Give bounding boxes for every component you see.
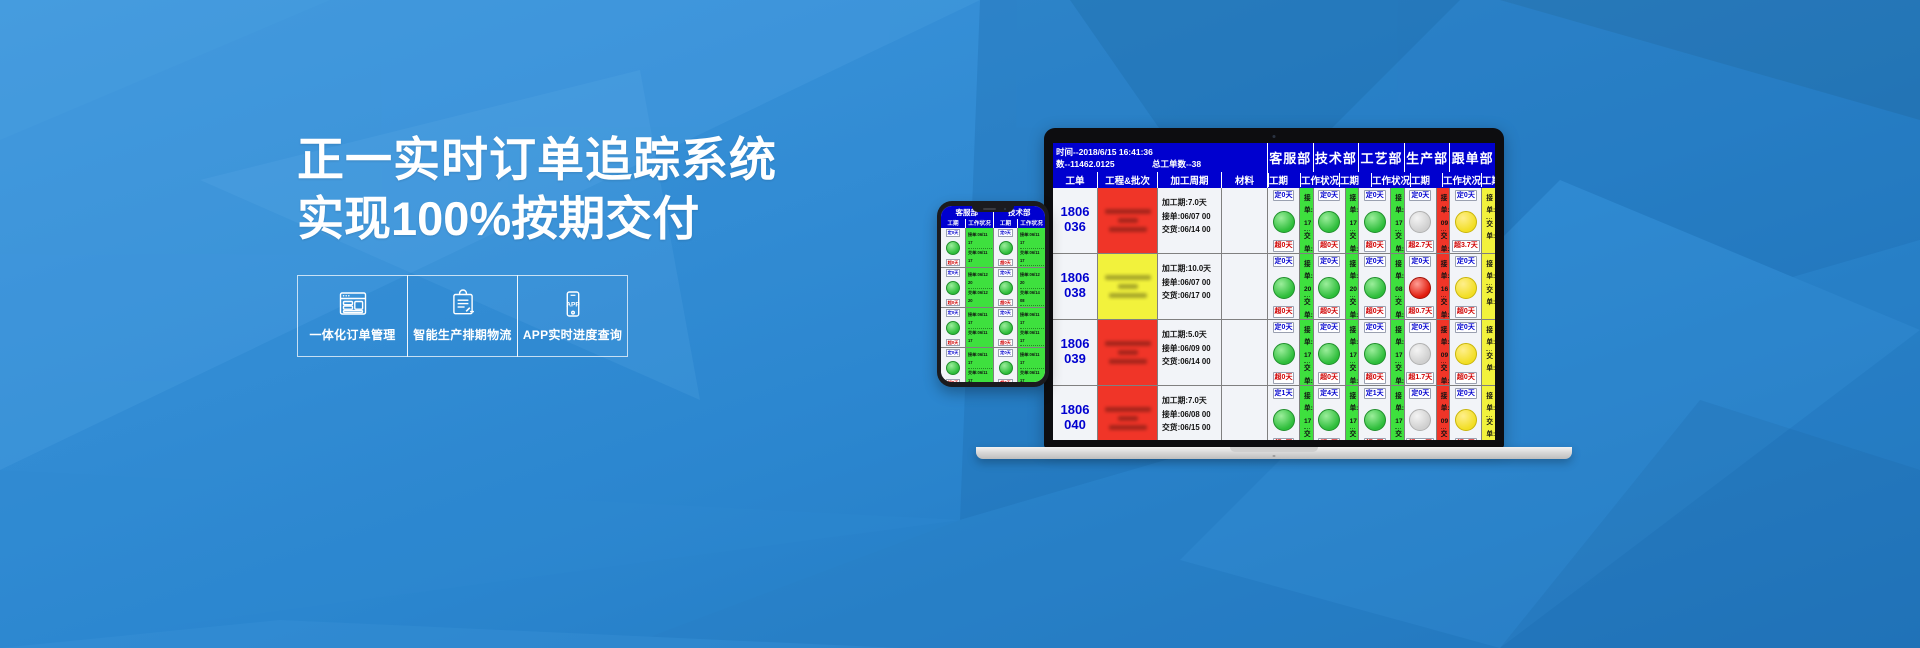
plan-days-badge: 定0天 [1273, 256, 1295, 267]
cell-status-客服部: 接单:06/11 17交单:06/11 17 [1299, 320, 1313, 385]
plan-days-badge: 定0天 [1273, 322, 1295, 333]
plan-days-badge: 定0天 [1455, 388, 1477, 399]
over-days-badge: 超2.7天 [1406, 240, 1434, 251]
status-line-1: 交单: [1486, 285, 1492, 310]
cell-days-技术部: 定0天超0天 [1313, 320, 1345, 385]
erp-dept-subcolumns: 工期工作状况工期工作状况工期工作状况工期工作状况工期工作状况 [1267, 172, 1495, 188]
over-days-badge: 超0天 [1273, 438, 1295, 440]
status-indicator-green [1273, 211, 1295, 233]
erp-timestamp: 时间--2018/6/15 16:41:36 [1056, 146, 1265, 158]
status-line-0: 接单:06/12 09 [1441, 391, 1447, 430]
webcam-icon [1273, 135, 1276, 138]
cell-status-工艺部: 接单:06/11 17交单:06/12 09 [1390, 320, 1404, 385]
phone-status-line-1: 交单:06/11 17 [1020, 369, 1044, 383]
plan-days-badge: 定0天 [1455, 256, 1477, 267]
cell-days-跟单部: 定0天超0天 [1449, 386, 1481, 440]
col-status-客服部: 工作状况 [1300, 173, 1339, 187]
status-line-1: 交单:06/11 17 [1350, 231, 1356, 252]
phone-over-badge: 超0天 [946, 379, 961, 382]
plan-days-badge: 定0天 [1409, 322, 1431, 333]
status-indicator-green [1273, 343, 1295, 365]
plan-days-badge: 定1天 [1273, 388, 1295, 399]
cell-status-生产部: 接单:06/12 09交单: [1436, 188, 1450, 253]
cell-status-技术部: 接单:06/11 17交单:06/11 17确认:06/11 17 [1345, 386, 1359, 440]
status-line-1: 交单:06/11 17 [1350, 363, 1356, 384]
cell-project-batch [1097, 188, 1157, 253]
col-status-工艺部: 工作状况 [1442, 173, 1481, 187]
cell-process-cycle: 加工期:5.0天接单:06/09 00交货:06/14 00 [1157, 320, 1221, 385]
cycle-line-0: 加工期:7.0天 [1162, 394, 1218, 408]
plan-days-badge: 定4天 [1318, 388, 1340, 399]
status-line-0: 接单:06/11 17 [1350, 325, 1356, 364]
erp-meta: 时间--2018/6/15 16:41:36 数--11462.0125 总工单… [1053, 143, 1267, 172]
cell-material [1221, 188, 1267, 253]
over-days-badge: 超0天 [1455, 306, 1477, 317]
cell-days-跟单部: 定0天超0天 [1449, 254, 1481, 319]
cell-work-order: 1806040 [1053, 386, 1097, 440]
status-indicator-yellow [1455, 277, 1477, 299]
cell-days-跟单部: 定0天超3.7天 [1449, 188, 1481, 253]
plan-days-badge: 定0天 [1318, 322, 1340, 333]
status-line-0: 接单:06/11 17 [1304, 193, 1310, 232]
over-days-badge: 超0天 [1364, 372, 1386, 383]
cell-days-技术部: 定4天超0天 [1313, 386, 1345, 440]
status-line-0: 接单:06/15 16 [1441, 259, 1447, 298]
col-days-生产部: 工期 [1481, 173, 1495, 187]
plan-days-badge: 定0天 [1455, 190, 1477, 201]
status-line-0: 接单:06/12 09 [1441, 193, 1447, 232]
status-indicator-green [1364, 277, 1386, 299]
table-row[interactable]: 1806039加工期:5.0天接单:06/09 00交货:06/14 00定0天… [1053, 320, 1495, 386]
status-line-1: 交单:06/12 09 [1395, 231, 1401, 252]
work-order-top: 1806 [1061, 205, 1090, 220]
plan-days-badge: 定0天 [1364, 256, 1386, 267]
work-order-bottom: 040 [1064, 418, 1086, 433]
over-days-badge: 超0天 [1455, 372, 1477, 383]
feature-smart-scheduling[interactable]: 智能生产排期物流 [407, 275, 518, 357]
status-line-0: 接单:06/11 17 [1304, 391, 1310, 430]
col-process-cycle: 加工周期 [1157, 172, 1221, 188]
plan-days-badge: 定0天 [1409, 256, 1431, 267]
over-days-badge: 超1.7天 [1406, 372, 1434, 383]
status-line-0: 接单:06/11 17 [1395, 391, 1401, 430]
cell-status-生产部: 接单:06/12 09交单: [1436, 386, 1450, 440]
erp-table-body[interactable]: 1806036加工期:7.0天接单:06/07 00交货:06/14 00定0天… [1053, 188, 1495, 440]
status-line-0: 接单: [1486, 325, 1492, 351]
cell-material [1221, 386, 1267, 440]
col-material: 材料 [1221, 172, 1267, 188]
status-indicator-green [1364, 343, 1386, 365]
cell-material [1221, 320, 1267, 385]
status-line-0: 接单:06/12 20 [1304, 259, 1310, 298]
status-line-1: 交单:06/12 09 [1395, 363, 1401, 384]
over-days-badge: 超0天 [1273, 240, 1295, 251]
cell-status-跟单部: 接单:交单: [1481, 320, 1495, 385]
status-indicator-green [1318, 211, 1340, 233]
feature-label: 智能生产排期物流 [413, 326, 511, 343]
work-order-bottom: 038 [1064, 286, 1086, 301]
clipboard-schedule-icon [448, 289, 478, 319]
status-line-1: 交单:06/14 08 [1350, 297, 1356, 318]
over-days-badge: 超0天 [1364, 306, 1386, 317]
over-days-badge: 超0天 [1273, 306, 1295, 317]
cell-status-工艺部: 接单:06/14 08交单:06/15 16 [1390, 254, 1404, 319]
cell-status-工艺部: 接单:06/11 17交单:06/12 09 [1390, 188, 1404, 253]
cell-days-技术部: 定0天超0天 [1313, 188, 1345, 253]
status-indicator-green [1364, 211, 1386, 233]
hero-copy: 正一实时订单追踪系统 实现100%按期交付 一体化订单管理 [297, 131, 1057, 357]
status-line-1: 交单: [1486, 417, 1492, 440]
status-line-0: 接单: [1486, 259, 1492, 285]
phone-status-indicator-green [946, 361, 960, 375]
status-line-1: 交单:06/15 16 [1395, 297, 1401, 318]
cell-status-生产部: 接单:06/15 16交单: [1436, 254, 1450, 319]
cell-process-cycle: 加工期:7.0天接单:06/07 00交货:06/14 00 [1157, 188, 1221, 253]
cell-status-技术部: 接单:06/11 17交单:06/11 17确认:06/11 17 [1345, 188, 1359, 253]
table-row[interactable]: 1806038加工期:10.0天接单:06/07 00交货:06/17 00定0… [1053, 254, 1495, 320]
cell-days-客服部: 定0天超0天 [1267, 320, 1299, 385]
plan-days-badge: 定0天 [1318, 190, 1340, 201]
over-days-badge: 超0天 [1273, 372, 1295, 383]
status-line-1: 交单:06/12 09 [1395, 429, 1401, 440]
status-line-1: 交单:06/11 17 [1304, 231, 1310, 252]
work-order-top: 1806 [1061, 403, 1090, 418]
cell-status-技术部: 接单:06/11 17交单:06/11 17确认:06/11 17 [1345, 320, 1359, 385]
status-line-0: 接单:06/12 09 [1441, 325, 1447, 364]
erp-dashboard: 时间--2018/6/15 16:41:36 数--11462.0125 总工单… [1053, 143, 1495, 440]
status-line-0: 接单:06/11 17 [1395, 193, 1401, 232]
plan-days-badge: 定0天 [1409, 388, 1431, 399]
cell-status-生产部: 接单:06/12 09交单: [1436, 320, 1450, 385]
phone-status-line-1: 交单:06/11 17 [968, 369, 992, 383]
cell-days-客服部: 定0天超0天 [1267, 254, 1299, 319]
status-indicator-yellow [1455, 409, 1477, 431]
department-生产部: 生产部 [1404, 143, 1450, 172]
cycle-line-1: 接单:06/09 00 [1162, 342, 1218, 356]
laptop-lid: 时间--2018/6/15 16:41:36 数--11462.0125 总工单… [1044, 128, 1504, 448]
feature-list: 一体化订单管理 智能生产排期物流 [297, 275, 1057, 357]
plan-days-badge: 定0天 [1455, 322, 1477, 333]
status-indicator-gray [1409, 409, 1431, 431]
laptop-base-notch [1230, 447, 1318, 452]
col-days-工艺部: 工期 [1410, 173, 1442, 187]
phone-status-indicator-green [999, 361, 1013, 375]
cell-days-工艺部: 定0天超0天 [1358, 320, 1390, 385]
work-order-bottom: 039 [1064, 352, 1086, 367]
cycle-line-2: 交货:06/17 00 [1162, 289, 1218, 303]
over-days-badge: 超3.7天 [1452, 240, 1480, 251]
laptop-mockup: 时间--2018/6/15 16:41:36 数--11462.0125 总工单… [1044, 128, 1504, 448]
status-indicator-green [1364, 409, 1386, 431]
feature-app-tracking[interactable]: APP APP实时进度查询 [517, 275, 628, 357]
erp-column-header: 工单 工程&批次 加工周期 材料 工期工作状况工期工作状况工期工作状况工期工作状… [1053, 172, 1495, 188]
status-line-1: 交单: [1441, 363, 1447, 384]
status-line-1: 交单: [1441, 231, 1447, 252]
cell-project-batch [1097, 386, 1157, 440]
department-技术部: 技术部 [1313, 143, 1359, 172]
cell-status-技术部: 接单:06/12 20交单:06/14 08确认:06/14 08 [1345, 254, 1359, 319]
cell-status-客服部: 接单:06/11 17交单:06/11 17 [1299, 386, 1313, 440]
cell-status-跟单部: 接单:交单: [1481, 188, 1495, 253]
col-days-客服部: 工期 [1268, 173, 1300, 187]
status-line-1: 交单:06/11 17 [1304, 363, 1310, 384]
status-line-0: 接单:06/11 17 [1350, 193, 1356, 232]
cycle-line-2: 交货:06/14 00 [1162, 223, 1218, 237]
page-title: 正一实时订单追踪系统 实现100%按期交付 [297, 131, 1057, 249]
cell-project-batch [1097, 254, 1157, 319]
cell-days-生产部: 定0天超1.7天 [1404, 320, 1436, 385]
cell-material [1221, 254, 1267, 319]
status-indicator-yellow [1455, 211, 1477, 233]
erp-total-orders: 总工单数--38 [1152, 158, 1201, 170]
headline-line-1: 正一实时订单追踪系统 [297, 131, 1057, 190]
cycle-line-0: 加工期:7.0天 [1162, 196, 1218, 210]
plan-days-badge: 定1天 [1364, 388, 1386, 399]
cycle-line-0: 加工期:5.0天 [1162, 328, 1218, 342]
over-days-badge: 超0天 [1318, 438, 1340, 440]
col-work-order: 工单 [1053, 172, 1097, 188]
status-indicator-green [1273, 277, 1295, 299]
cell-days-工艺部: 定0天超0天 [1358, 254, 1390, 319]
cell-days-生产部: 定0天超2.7天 [1404, 188, 1436, 253]
status-indicator-gray [1409, 343, 1431, 365]
status-indicator-green [1318, 277, 1340, 299]
plan-days-badge: 定0天 [1318, 256, 1340, 267]
col-project-batch: 工程&批次 [1097, 172, 1157, 188]
plan-days-badge: 定0天 [1364, 190, 1386, 201]
status-line-0: 接单:06/14 08 [1395, 259, 1401, 298]
laptop-base [976, 447, 1572, 459]
cell-status-工艺部: 接单:06/11 17交单:06/12 09 [1390, 386, 1404, 440]
cycle-line-0: 加工期:10.0天 [1162, 262, 1218, 276]
work-order-top: 1806 [1061, 271, 1090, 286]
cell-days-生产部: 定0天超0.7天 [1404, 386, 1436, 440]
plan-days-badge: 定0天 [1409, 190, 1431, 201]
cell-status-跟单部: 接单:交单: [1481, 254, 1495, 319]
status-indicator-yellow [1455, 343, 1477, 365]
cell-project-batch [1097, 320, 1157, 385]
status-line-0: 接单:06/12 20 [1350, 259, 1356, 298]
over-days-badge: 超0天 [1318, 372, 1340, 383]
status-line-0: 接单: [1486, 391, 1492, 417]
status-line-1: 交单: [1441, 297, 1447, 318]
feature-order-management[interactable]: 一体化订单管理 [297, 275, 408, 357]
cell-days-技术部: 定0天超0天 [1313, 254, 1345, 319]
cell-status-跟单部: 接单:交单: [1481, 386, 1495, 440]
headline-line-2: 实现100%按期交付 [297, 190, 1057, 249]
status-indicator-gray [1409, 211, 1431, 233]
status-indicator-red [1409, 277, 1431, 299]
feature-label: APP实时进度查询 [523, 326, 622, 343]
status-line-1: 交单: [1441, 429, 1447, 440]
laptop-base-dot [1273, 455, 1276, 457]
work-order-top: 1806 [1061, 337, 1090, 352]
cell-days-客服部: 定0天超0天 [1267, 188, 1299, 253]
table-row[interactable]: 1806040加工期:7.0天接单:06/08 00交货:06/15 00定1天… [1053, 386, 1495, 440]
cell-days-客服部: 定1天超0天 [1267, 386, 1299, 440]
erp-serial: 数--11462.0125 [1056, 158, 1152, 170]
cycle-line-2: 交货:06/15 00 [1162, 421, 1218, 435]
feature-label: 一体化订单管理 [309, 326, 395, 343]
over-days-badge: 超0.7天 [1406, 438, 1434, 440]
cycle-line-1: 接单:06/07 00 [1162, 210, 1218, 224]
over-days-badge: 超0天 [1364, 438, 1386, 440]
department-跟单部: 跟单部 [1449, 143, 1495, 172]
status-indicator-green [1318, 409, 1340, 431]
status-line-1: 交单:06/11 17 [1350, 429, 1356, 440]
cycle-line-2: 交货:06/14 00 [1162, 355, 1218, 369]
erp-title-bar: 时间--2018/6/15 16:41:36 数--11462.0125 总工单… [1053, 143, 1495, 172]
col-days-技术部: 工期 [1339, 173, 1371, 187]
cell-days-工艺部: 定0天超0天 [1358, 188, 1390, 253]
mobile-app-icon: APP [558, 289, 588, 319]
department-工艺部: 工艺部 [1358, 143, 1404, 172]
plan-days-badge: 定0天 [1364, 322, 1386, 333]
status-line-1: 交单:06/11 17 [1304, 429, 1310, 440]
cell-days-跟单部: 定0天超0天 [1449, 320, 1481, 385]
laptop-screen[interactable]: 时间--2018/6/15 16:41:36 数--11462.0125 总工单… [1053, 143, 1495, 440]
plan-days-badge: 定0天 [1273, 190, 1295, 201]
status-line-0: 接单:06/11 17 [1304, 325, 1310, 364]
over-days-badge: 超0天 [1318, 240, 1340, 251]
cell-work-order: 1806039 [1053, 320, 1097, 385]
cell-days-生产部: 定0天超0.7天 [1404, 254, 1436, 319]
status-line-0: 接单:06/11 17 [1395, 325, 1401, 364]
erp-department-row: 客服部技术部工艺部生产部跟单部 [1267, 143, 1495, 172]
over-days-badge: 超0天 [1364, 240, 1386, 251]
order-management-icon [338, 289, 368, 319]
col-status-技术部: 工作状况 [1371, 173, 1410, 187]
status-line-0: 接单:06/11 17 [1350, 391, 1356, 430]
over-days-badge: 超0.7天 [1406, 306, 1434, 317]
department-客服部: 客服部 [1267, 143, 1313, 172]
over-days-badge: 超0天 [1455, 438, 1477, 440]
cell-days-工艺部: 定1天超0天 [1358, 386, 1390, 440]
status-indicator-green [1273, 409, 1295, 431]
svg-text:APP: APP [566, 301, 580, 308]
cycle-line-1: 接单:06/08 00 [1162, 408, 1218, 422]
status-line-0: 接单: [1486, 193, 1492, 219]
phone-over-badge: 超0天 [998, 379, 1013, 382]
over-days-badge: 超0天 [1318, 306, 1340, 317]
cell-work-order: 1806036 [1053, 188, 1097, 253]
status-line-1: 交单:06/12 20 [1304, 297, 1310, 318]
cell-status-客服部: 接单:06/12 20交单:06/12 20 [1299, 254, 1313, 319]
table-row[interactable]: 1806036加工期:7.0天接单:06/07 00交货:06/14 00定0天… [1053, 188, 1495, 254]
status-line-1: 交单: [1486, 219, 1492, 244]
cell-status-客服部: 接单:06/11 17交单:06/11 17 [1299, 188, 1313, 253]
status-indicator-green [1318, 343, 1340, 365]
cell-process-cycle: 加工期:10.0天接单:06/07 00交货:06/17 00 [1157, 254, 1221, 319]
status-line-1: 交单: [1486, 351, 1492, 376]
cell-process-cycle: 加工期:7.0天接单:06/08 00交货:06/15 00 [1157, 386, 1221, 440]
work-order-bottom: 036 [1064, 220, 1086, 235]
cycle-line-1: 接单:06/07 00 [1162, 276, 1218, 290]
cell-work-order: 1806038 [1053, 254, 1097, 319]
